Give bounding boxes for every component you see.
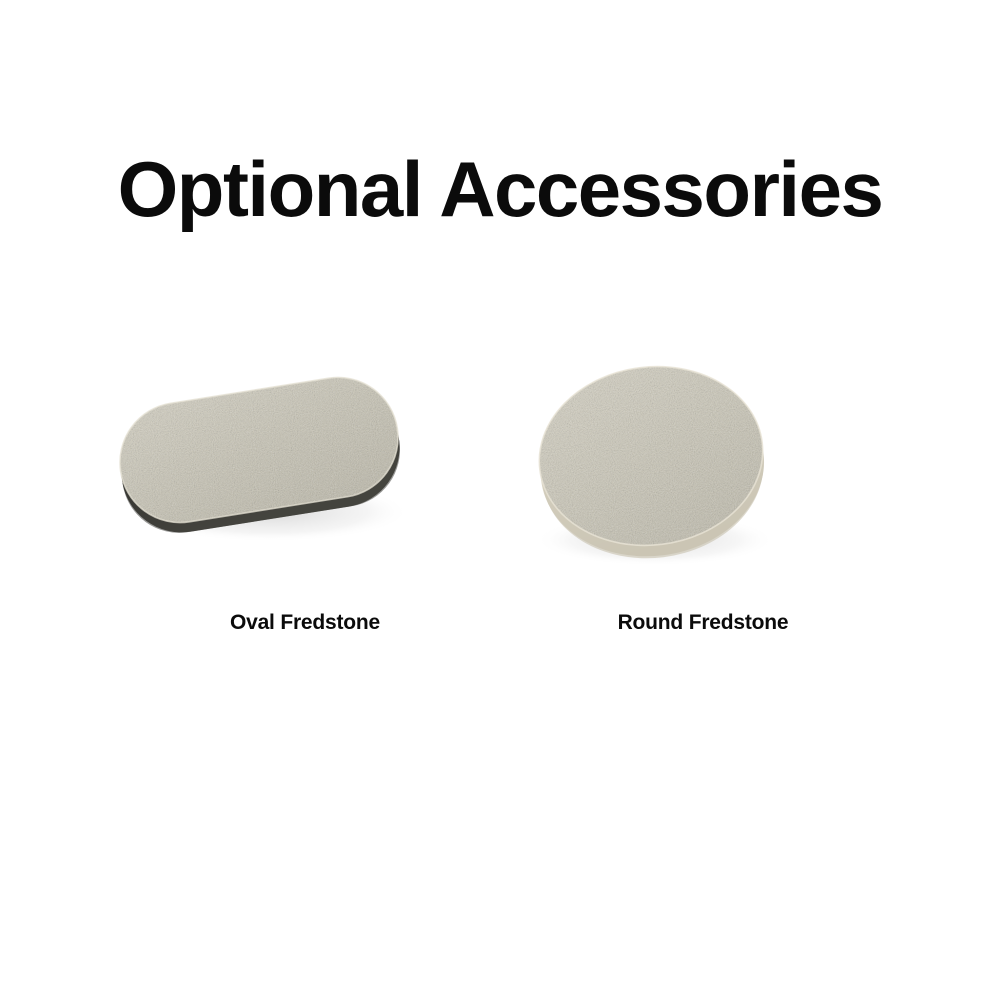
oval-fredstone-image xyxy=(105,360,505,590)
page-root: Optional Accessories xyxy=(0,0,1000,1000)
product-grid: Oval Fredstone xyxy=(0,360,1000,700)
product-card-oval[interactable]: Oval Fredstone xyxy=(105,360,505,700)
product-caption-round: Round Fredstone xyxy=(503,610,903,636)
oval-stone-graphic xyxy=(105,360,505,590)
oval-stone-texture xyxy=(105,360,505,590)
page-title: Optional Accessories xyxy=(0,148,1000,230)
product-card-round[interactable]: Round Fredstone xyxy=(503,360,903,700)
product-caption-oval: Oval Fredstone xyxy=(105,610,505,636)
round-fredstone-image xyxy=(503,360,903,590)
round-stone-graphic xyxy=(503,360,903,590)
